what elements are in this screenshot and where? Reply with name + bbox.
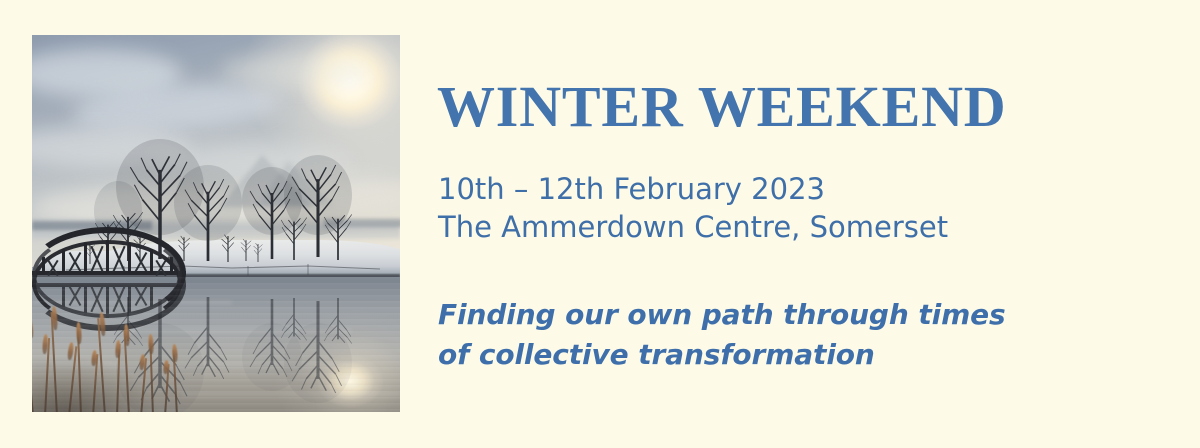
event-dates: 10th – 12th February 2023 [438,170,948,208]
tagline-line-1: Finding our own path through times [438,295,1006,335]
tagline-line-2: of collective transformation [438,335,1006,375]
event-tagline: Finding our own path through times of co… [438,295,1006,375]
bridge-deck-reflection [32,283,186,287]
photo-canvas [32,35,400,412]
event-details: 10th – 12th February 2023 The Ammerdown … [438,170,948,246]
event-banner: WINTER WEEKEND 10th – 12th February 2023… [0,0,1200,448]
winter-lake-photo [32,35,400,412]
event-venue: The Ammerdown Centre, Somerset [438,208,948,246]
page-title: WINTER WEEKEND [437,78,1006,136]
foreground-reeds [32,304,196,412]
